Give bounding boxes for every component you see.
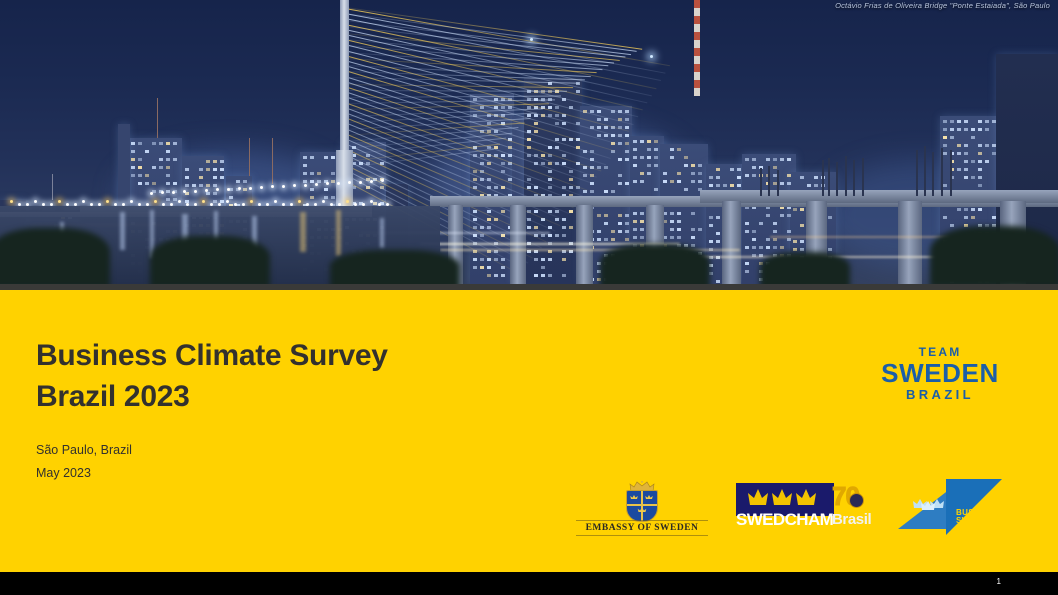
subtitle-date: May 2023 xyxy=(36,462,132,485)
page-number: 1 xyxy=(997,577,1001,586)
page-title: Business Climate Survey Brazil 2023 xyxy=(36,335,388,418)
team-sweden-logo: TEAM SWEDEN BRAZIL xyxy=(880,345,1000,402)
business-sweden-line2: SWEDEN xyxy=(956,517,1000,525)
anniversary-seal-icon xyxy=(849,493,864,508)
swedcham-brasil-label: Brasil xyxy=(832,511,871,528)
crowns-icon xyxy=(912,497,946,511)
swedcham-label: SWEDCHAM xyxy=(736,510,840,530)
footer-bar: 1 xyxy=(0,572,1058,595)
hero-photo: Octávio Frias de Oliveira Bridge "Ponte … xyxy=(0,0,1058,284)
foreground-vegetation xyxy=(0,0,1058,284)
subtitle-location: São Paulo, Brazil xyxy=(36,439,132,462)
photo-caption: Octávio Frias de Oliveira Bridge "Ponte … xyxy=(835,1,1050,10)
business-sweden-logo: BUSINESS SWEDEN xyxy=(898,479,1004,536)
team-sweden-line1: TEAM xyxy=(880,345,1000,359)
photo-divider xyxy=(0,284,1058,290)
embassy-of-sweden-logo: EMBASSY OF SWEDEN xyxy=(576,481,708,536)
embassy-label: EMBASSY OF SWEDEN xyxy=(576,523,708,578)
team-sweden-line2: SWEDEN xyxy=(880,359,1000,387)
subtitle-block: São Paulo, Brazil May 2023 xyxy=(36,439,132,485)
business-sweden-label: BUSINESS SWEDEN xyxy=(956,509,1000,526)
sweden-shield-icon xyxy=(626,490,658,522)
title-slide: Octávio Frias de Oliveira Bridge "Ponte … xyxy=(0,0,1058,595)
team-sweden-line3: BRAZIL xyxy=(880,387,1000,402)
business-sweden-shape-right xyxy=(946,479,1002,535)
swedcham-brasil-logo: 70 SWEDCHAM Brasil xyxy=(736,483,876,533)
